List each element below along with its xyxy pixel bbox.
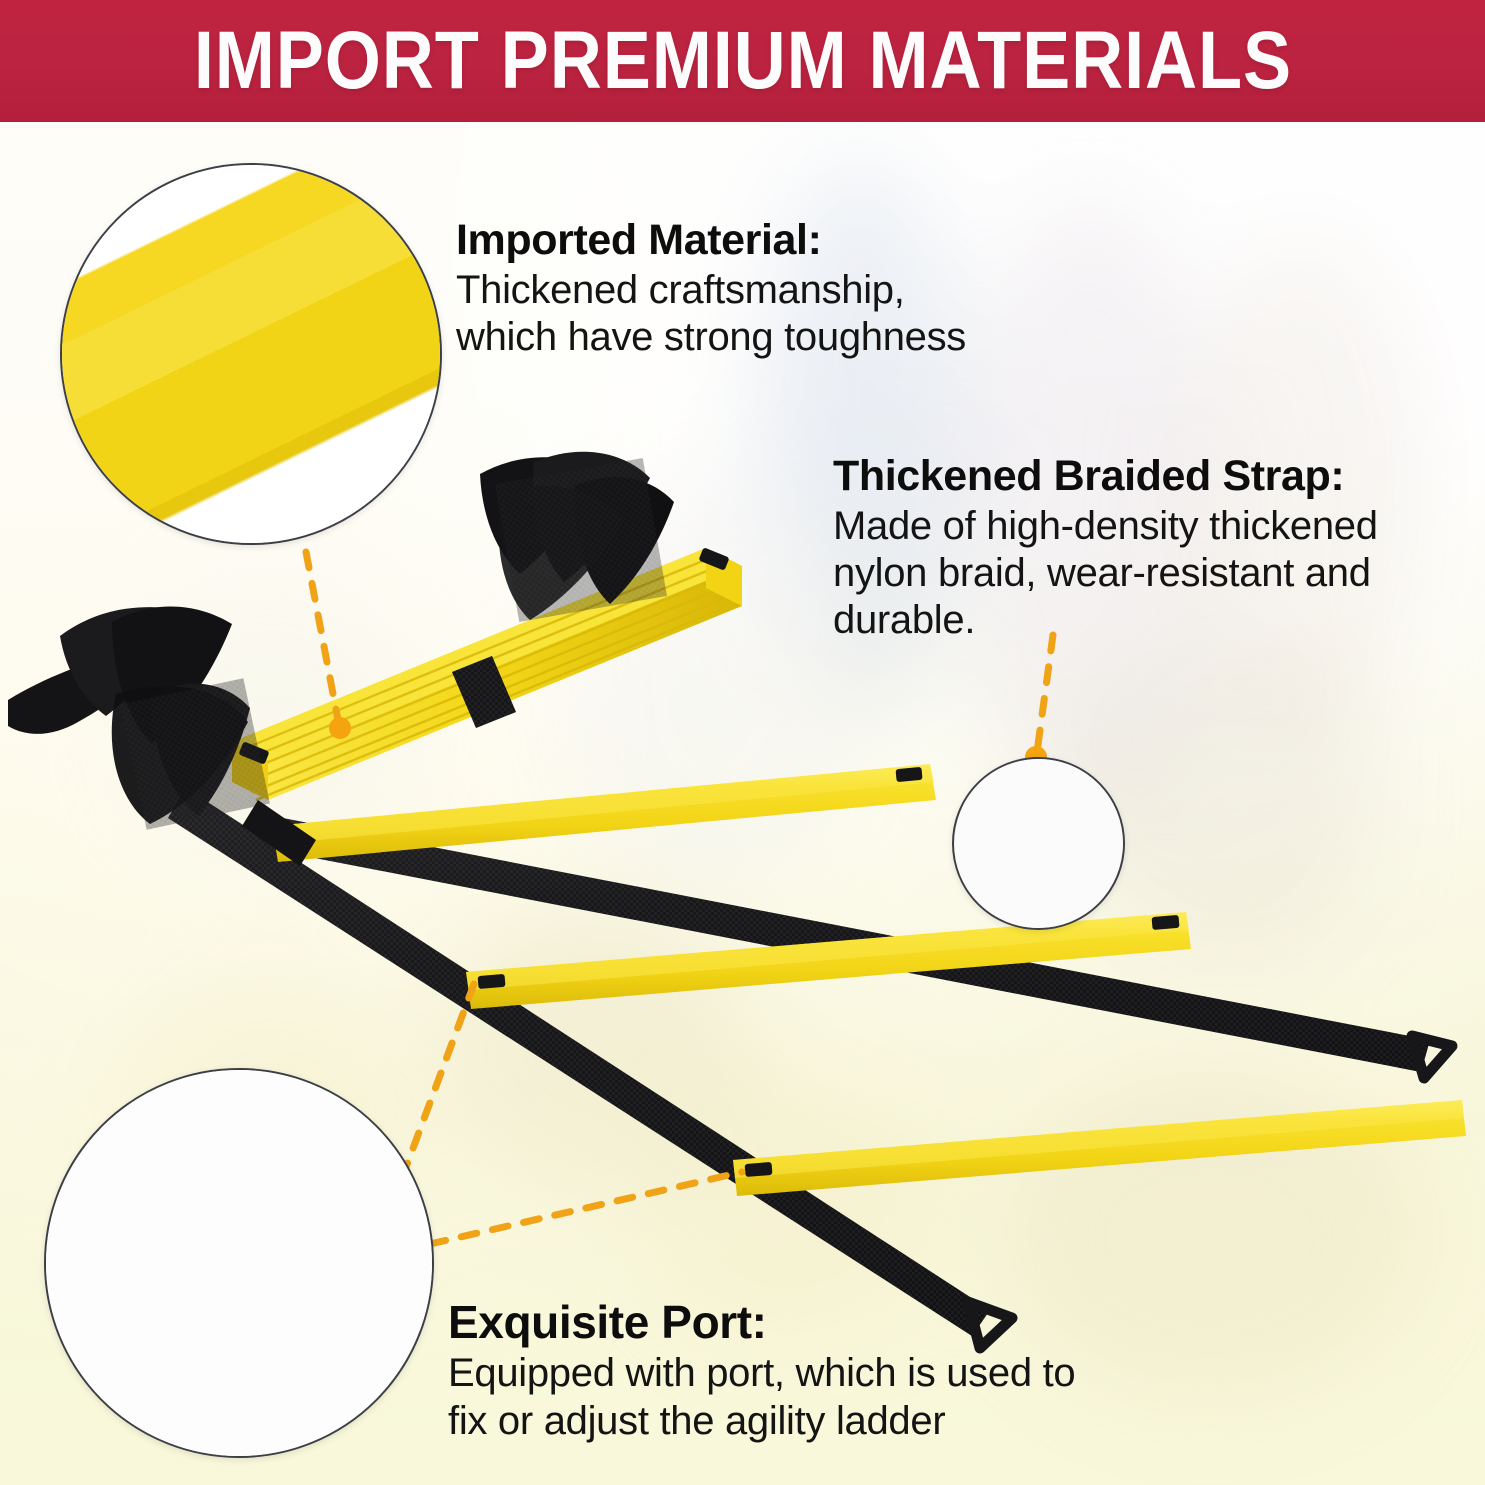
callout-body-exquisite-port: Equipped with port, which is used to fix… (448, 1350, 1075, 1444)
callout-heading-imported-material: Imported Material: (456, 216, 966, 265)
infographic-canvas: Imported Material: Thickened craftsmansh… (0, 0, 1485, 1485)
callout-body-imported-material: Thickened craftsmanship, which have stro… (456, 267, 966, 361)
strap-bundle-right (480, 452, 674, 622)
ladder-rung-3 (733, 1100, 1466, 1196)
callout-line: Thickened craftsmanship, (456, 267, 966, 314)
callout-exquisite-port: Exquisite Port: Equipped with port, whic… (448, 1296, 1075, 1445)
banner-title: IMPORT PREMIUM MATERIALS (193, 14, 1291, 108)
zoom-inset-port-closeup (44, 1068, 434, 1458)
callout-imported-material: Imported Material: Thickened craftsmansh… (456, 216, 966, 361)
callout-heading-exquisite-port: Exquisite Port: (448, 1296, 1075, 1348)
bundled-rung-stack (232, 547, 742, 800)
strap-bundle-left (8, 606, 270, 829)
callout-line: Made of high-density thickened (833, 503, 1378, 550)
header-banner: IMPORT PREMIUM MATERIALS (0, 0, 1485, 122)
callout-line: durable. (833, 597, 1378, 644)
callout-line: fix or adjust the agility ladder (448, 1398, 1075, 1445)
d-ring-right (1412, 1036, 1452, 1078)
callout-line: nylon braid, wear-resistant and (833, 550, 1378, 597)
zoom-inset-strap-closeup (952, 757, 1125, 930)
zoom-inset-material-closeup (60, 163, 442, 545)
callout-line: which have strong toughness (456, 314, 966, 361)
callout-line: Equipped with port, which is used to (448, 1350, 1075, 1397)
callout-thickened-braided-strap: Thickened Braided Strap: Made of high-de… (833, 452, 1378, 645)
callout-body-braided-strap: Made of high-density thickened nylon bra… (833, 503, 1378, 645)
callout-heading-braided-strap: Thickened Braided Strap: (833, 452, 1378, 501)
ladder-rung-1 (272, 764, 936, 862)
